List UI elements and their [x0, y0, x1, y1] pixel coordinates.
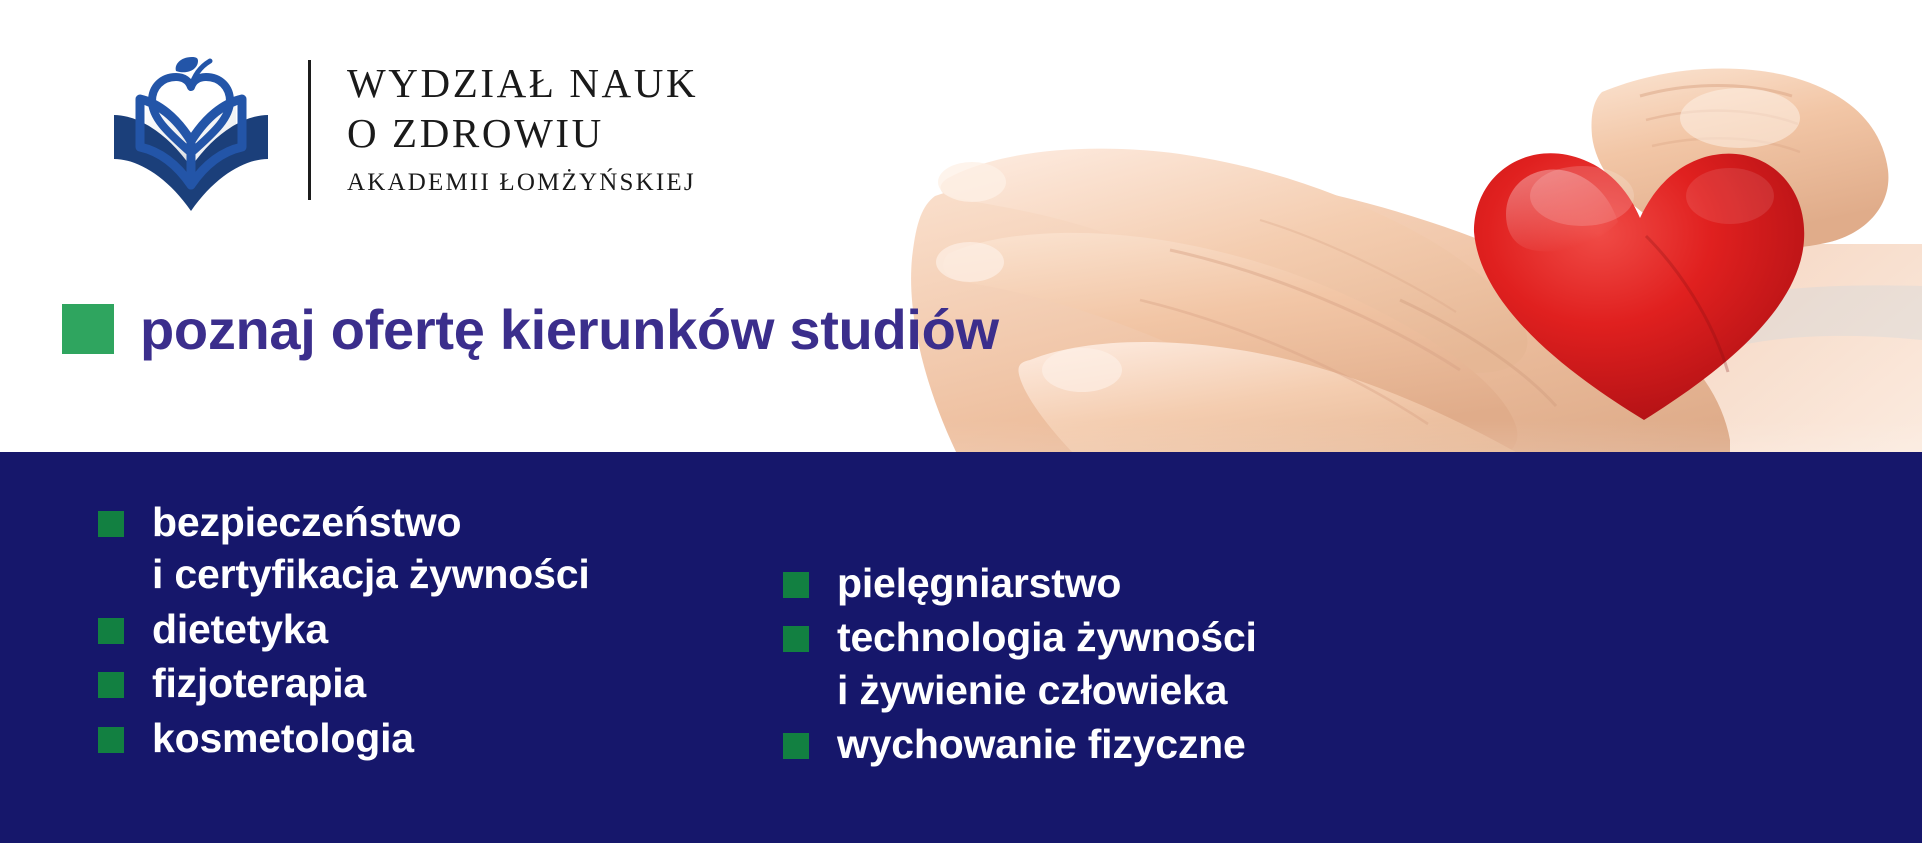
- programmes-column-left: bezpieczeństwo i certyfikacja żywności d…: [98, 496, 590, 766]
- programme-label: fizjoterapia: [152, 657, 366, 709]
- green-square-bullet-icon: [98, 511, 124, 537]
- green-square-bullet-icon: [783, 733, 809, 759]
- programme-label: technologia żywności i żywienie człowiek…: [837, 611, 1257, 716]
- green-square-bullet-icon: [98, 618, 124, 644]
- faculty-name-line1: WYDZIAŁ NAUK: [347, 58, 698, 108]
- open-book-with-heart-and-apple-leaf-icon: [96, 43, 286, 218]
- offer-tagline-text: poznaj ofertę kierunków studiów: [140, 298, 999, 361]
- list-item[interactable]: wychowanie fizyczne: [783, 718, 1257, 770]
- programmes-panel: bezpieczeństwo i certyfikacja żywności d…: [0, 452, 1922, 843]
- faculty-name-line2: O ZDROWIU: [347, 108, 698, 158]
- faculty-offer-banner: WYDZIAŁ NAUK O ZDROWIU AKADEMII ŁOMŻYŃSK…: [0, 0, 1922, 843]
- green-square-bullet-icon: [783, 572, 809, 598]
- hand-holding-red-heart-photo: [840, 0, 1922, 460]
- programmes-list: bezpieczeństwo i certyfikacja żywności d…: [0, 452, 1922, 843]
- list-item[interactable]: technologia żywności i żywienie człowiek…: [783, 611, 1257, 716]
- faculty-logo: WYDZIAŁ NAUK O ZDROWIU AKADEMII ŁOMŻYŃSK…: [96, 40, 716, 220]
- faculty-name: WYDZIAŁ NAUK O ZDROWIU AKADEMII ŁOMŻYŃSK…: [347, 58, 698, 202]
- green-square-bullet-icon: [62, 304, 114, 354]
- programme-label: pielęgniarstwo: [837, 557, 1121, 609]
- green-square-bullet-icon: [98, 727, 124, 753]
- list-item[interactable]: kosmetologia: [98, 712, 590, 764]
- green-square-bullet-icon: [783, 626, 809, 652]
- programmes-column-right: pielęgniarstwo technologia żywności i ży…: [783, 557, 1257, 773]
- offer-tagline: poznaj ofertę kierunków studiów: [62, 298, 999, 361]
- logo-divider: [308, 60, 311, 200]
- programme-label: dietetyka: [152, 603, 328, 655]
- university-name: AKADEMII ŁOMŻYŃSKIEJ: [347, 164, 698, 202]
- programme-label: kosmetologia: [152, 712, 414, 764]
- green-square-bullet-icon: [98, 672, 124, 698]
- list-item[interactable]: bezpieczeństwo i certyfikacja żywności: [98, 496, 590, 601]
- list-item[interactable]: dietetyka: [98, 603, 590, 655]
- programme-label: wychowanie fizyczne: [837, 718, 1246, 770]
- programme-label: bezpieczeństwo i certyfikacja żywności: [152, 496, 590, 601]
- list-item[interactable]: fizjoterapia: [98, 657, 590, 709]
- list-item[interactable]: pielęgniarstwo: [783, 557, 1257, 609]
